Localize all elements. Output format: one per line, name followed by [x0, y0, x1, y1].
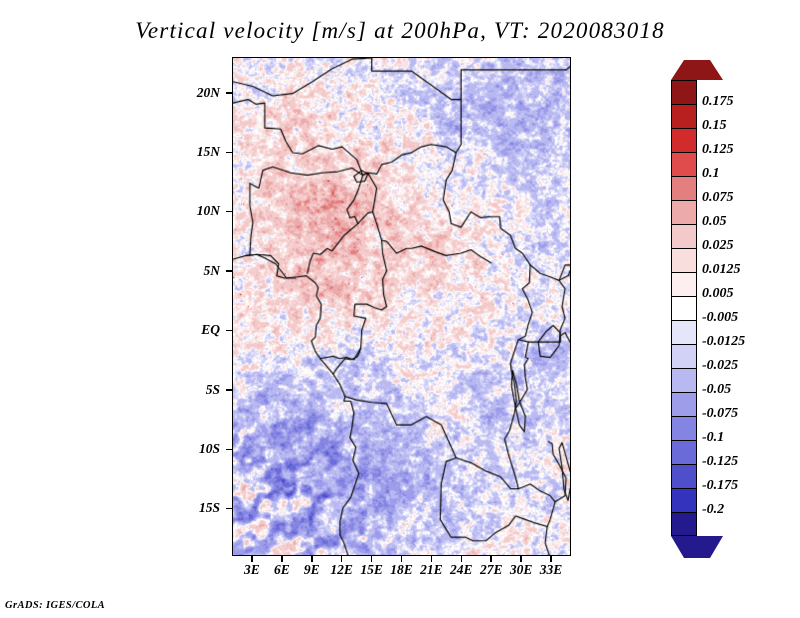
x-axis-tick-mark [461, 556, 463, 562]
colorbar-band[interactable] [671, 80, 697, 104]
country-borders-overlay [233, 58, 570, 555]
colorbar-tick-label: 0.125 [702, 142, 734, 158]
y-axis-tick-mark [226, 92, 232, 94]
x-axis-tick-mark [490, 556, 492, 562]
y-axis-tick-label: 10S [160, 441, 220, 457]
colorbar-tick-label: 0.05 [702, 214, 727, 230]
colorbar-band[interactable] [671, 344, 697, 368]
colorbar-tick-label: 0.005 [702, 286, 734, 302]
colorbar-band[interactable] [671, 464, 697, 488]
colorbar-band[interactable] [671, 272, 697, 296]
y-axis-tick-label: 5S [160, 382, 220, 398]
x-axis-tick-mark [550, 556, 552, 562]
colorbar-tick-label: -0.1 [702, 430, 724, 446]
y-axis-tick-mark [226, 330, 232, 332]
y-axis-tick-label: 20N [160, 85, 220, 101]
colorbar-tick-label: -0.2 [702, 502, 724, 518]
x-axis-tick-mark [341, 556, 343, 562]
colorbar-band[interactable] [671, 200, 697, 224]
y-axis-tick-label: EQ [160, 322, 220, 338]
y-axis-tick-label: 15N [160, 144, 220, 160]
x-axis-tick-mark [251, 556, 253, 562]
colorbar-band[interactable] [671, 104, 697, 128]
colorbar-tick-label: 0.025 [702, 238, 734, 254]
y-axis-tick-label: 5N [160, 263, 220, 279]
colorbar-tick-label: -0.125 [702, 454, 738, 470]
colorbar-band[interactable] [671, 224, 697, 248]
x-axis-tick-mark [431, 556, 433, 562]
colorbar-band[interactable] [671, 416, 697, 440]
grads-attribution: GrADS: IGES/COLA [5, 600, 105, 611]
y-axis-tick-mark [226, 211, 232, 213]
y-axis-tick-mark [226, 508, 232, 510]
x-axis-tick-mark [520, 556, 522, 562]
y-axis-tick-mark [226, 389, 232, 391]
x-axis-tick-label: 33E [529, 562, 573, 578]
colorbar-bottom-arrow [671, 536, 723, 558]
colorbar-band[interactable] [671, 368, 697, 392]
colorbar-band[interactable] [671, 128, 697, 152]
colorbar-tick-label: 0.075 [702, 190, 734, 206]
y-axis-tick-label: 10N [160, 203, 220, 219]
colorbar-tick-label: -0.075 [702, 406, 738, 422]
colorbar[interactable] [671, 80, 697, 536]
colorbar-band[interactable] [671, 512, 697, 536]
y-axis-tick-mark [226, 152, 232, 154]
x-axis-tick-mark [311, 556, 313, 562]
x-axis-tick-mark [401, 556, 403, 562]
x-axis-tick-mark [371, 556, 373, 562]
colorbar-tick-label: 0.175 [702, 94, 734, 110]
colorbar-tick-label: -0.025 [702, 358, 738, 374]
map-plot-area[interactable] [232, 57, 571, 556]
colorbar-tick-label: -0.05 [702, 382, 731, 398]
colorbar-band[interactable] [671, 248, 697, 272]
colorbar-tick-label: -0.005 [702, 310, 738, 326]
colorbar-tick-label: -0.175 [702, 478, 738, 494]
colorbar-band[interactable] [671, 152, 697, 176]
y-axis-tick-label: 15S [160, 500, 220, 516]
colorbar-band[interactable] [671, 440, 697, 464]
colorbar-band[interactable] [671, 488, 697, 512]
colorbar-tick-label: 0.15 [702, 118, 727, 134]
colorbar-band[interactable] [671, 296, 697, 320]
x-axis-tick-mark [281, 556, 283, 562]
colorbar-top-arrow [671, 60, 723, 80]
grads-plot-page: Vertical velocity [m/s] at 200hPa, VT: 2… [0, 0, 800, 618]
colorbar-band[interactable] [671, 392, 697, 416]
page-title: Vertical velocity [m/s] at 200hPa, VT: 2… [0, 18, 800, 44]
y-axis-tick-mark [226, 449, 232, 451]
colorbar-band[interactable] [671, 176, 697, 200]
colorbar-tick-label: 0.0125 [702, 262, 741, 278]
y-axis-tick-mark [226, 270, 232, 272]
colorbar-band[interactable] [671, 320, 697, 344]
colorbar-tick-label: -0.0125 [702, 334, 745, 350]
colorbar-tick-label: 0.1 [702, 166, 720, 182]
